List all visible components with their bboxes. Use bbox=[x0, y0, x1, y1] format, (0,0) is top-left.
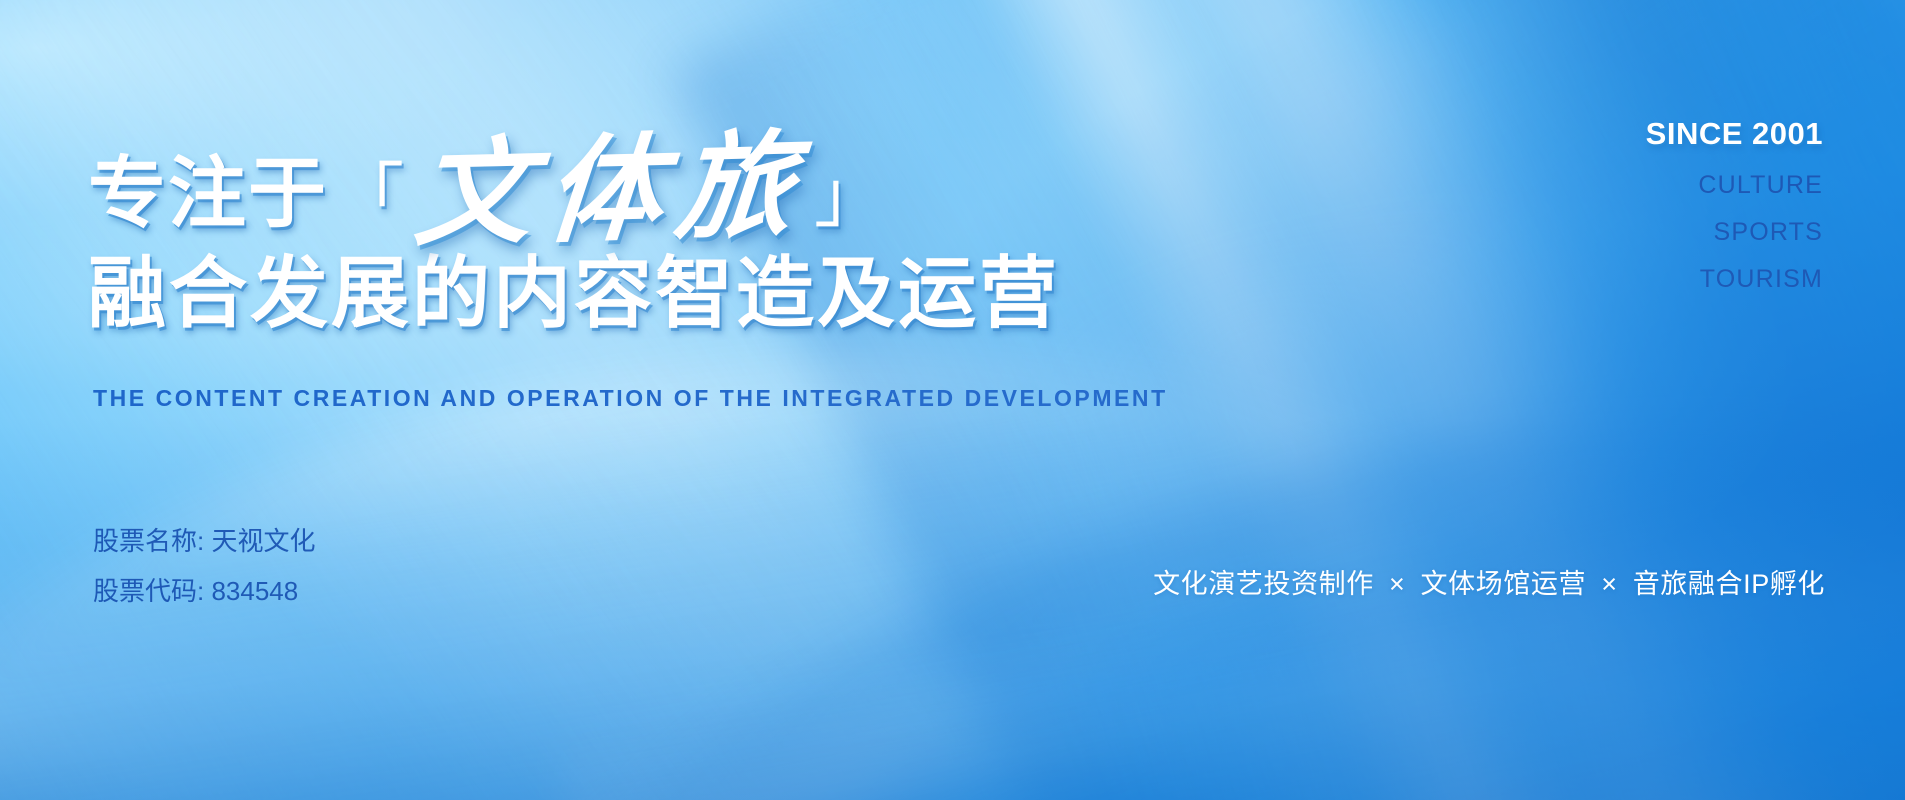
keyword-sports: SPORTS bbox=[1646, 220, 1823, 245]
tagline-separator-1: × bbox=[1382, 569, 1412, 599]
keyword-culture: CULTURE bbox=[1646, 173, 1823, 198]
headline-line-2: 融合发展的内容智造及运营 bbox=[88, 254, 1288, 332]
business-tagline: 文化演艺投资制作 × 文体场馆运营 × 音旅融合IP孵化 bbox=[1153, 562, 1825, 601]
stock-name-line: 股票名称: 天视文化 bbox=[93, 528, 315, 554]
tagline-separator-2: × bbox=[1594, 569, 1624, 599]
english-subtitle: THE CONTENT CREATION AND OPERATION OF TH… bbox=[93, 385, 1168, 412]
headline-line-2-text: 融合发展的内容智造及运营 bbox=[88, 254, 1060, 332]
since-label: SINCE 2001 bbox=[1646, 118, 1823, 149]
tagline-part-1: 文化演艺投资制作 bbox=[1153, 569, 1374, 599]
tagline-part-2: 文体场馆运营 bbox=[1420, 569, 1586, 599]
bracket-close-glyph: 」 bbox=[814, 161, 886, 231]
headline-line-1: 专注于 「 文体旅 」 bbox=[88, 130, 1288, 234]
bracket-open-glyph: 「 bbox=[334, 161, 406, 231]
tagline-part-3: 音旅融合IP孵化 bbox=[1633, 569, 1825, 599]
stock-info-block: 股票名称: 天视文化 股票代码: 834548 bbox=[93, 528, 315, 604]
right-keyword-stack: SINCE 2001 CULTURE SPORTS TOURISM bbox=[1646, 118, 1823, 292]
banner-canvas: 专注于 「 文体旅 」 融合发展的内容智造及运营 THE CONTENT CRE… bbox=[0, 0, 1905, 800]
stock-code-line: 股票代码: 834548 bbox=[93, 578, 315, 604]
headline-prefix: 专注于 bbox=[88, 154, 328, 232]
headline-block: 专注于 「 文体旅 」 融合发展的内容智造及运营 bbox=[88, 130, 1288, 332]
keyword-tourism: TOURISM bbox=[1646, 267, 1823, 292]
headline-brush-keyword: 文体旅 bbox=[411, 135, 810, 249]
banner-content: 专注于 「 文体旅 」 融合发展的内容智造及运营 THE CONTENT CRE… bbox=[0, 0, 1905, 800]
